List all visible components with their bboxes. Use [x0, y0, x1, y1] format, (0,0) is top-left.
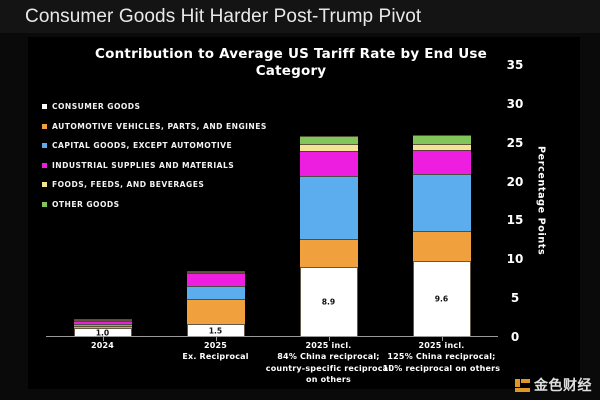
watermark-logo-icon	[515, 378, 530, 393]
y-axis-tick-label: 15	[502, 213, 528, 227]
y-axis: 05101520253035	[502, 65, 536, 337]
bar-segment[interactable]	[413, 135, 471, 144]
bar-segment[interactable]	[300, 144, 358, 151]
bar-segment[interactable]	[300, 151, 358, 176]
x-axis-labels: 20242025Ex. Reciprocal2025 incl.84% Chin…	[46, 340, 498, 386]
bar-segment[interactable]	[74, 324, 132, 326]
bar-segment[interactable]	[74, 321, 132, 324]
y-axis-tick-label: 5	[502, 291, 528, 305]
y-axis-title: Percentage Points	[533, 65, 549, 337]
y-axis-tick-label: 10	[502, 252, 528, 266]
chart-panel: Contribution to Average US Tariff Rate b…	[28, 37, 580, 389]
y-axis-tick-label: 35	[502, 58, 528, 72]
bar-segment[interactable]: 8.9	[300, 267, 358, 336]
x-axis-category-line: 125% China reciprocal;	[374, 351, 509, 362]
y-axis-title-text: Percentage Points	[536, 146, 547, 255]
x-axis-category-label: 2025 incl.125% China reciprocal;10% reci…	[374, 340, 509, 374]
bar-segment[interactable]	[413, 144, 471, 150]
bar-value-label: 8.9	[301, 297, 357, 306]
bar-value-label: 1.0	[75, 328, 131, 337]
bar-segment[interactable]	[74, 319, 132, 320]
watermark: 金色财经	[515, 375, 592, 395]
bar-segment[interactable]	[187, 271, 245, 272]
y-axis-tick-label: 20	[502, 175, 528, 189]
bar-segment[interactable]: 1.0	[74, 328, 132, 336]
bar-stack[interactable]: 1.5	[187, 271, 245, 336]
header-banner: Consumer Goods Hit Harder Post-Trump Piv…	[0, 0, 600, 33]
bar-value-label: 1.5	[188, 326, 244, 335]
bar-segment[interactable]	[74, 320, 132, 321]
bar-segment[interactable]	[187, 273, 245, 286]
bar-value-label: 9.6	[414, 295, 470, 304]
watermark-text: 金色财经	[534, 375, 592, 395]
bar-stack[interactable]: 8.9	[300, 136, 358, 336]
bar-segment[interactable]	[187, 299, 245, 324]
bar-segment[interactable]	[74, 326, 132, 328]
page-title: Consumer Goods Hit Harder Post-Trump Piv…	[0, 6, 421, 28]
bar-stack[interactable]: 9.6	[413, 135, 471, 336]
bar-segment[interactable]	[300, 136, 358, 145]
bar-stack[interactable]: 1.0	[74, 319, 132, 336]
bar-segment[interactable]	[187, 272, 245, 273]
bar-segment[interactable]	[413, 231, 471, 261]
x-axis-category-line: 2025 incl.	[374, 340, 509, 351]
screenshot-root: Consumer Goods Hit Harder Post-Trump Piv…	[0, 0, 600, 400]
bar-segment[interactable]	[300, 176, 358, 239]
y-axis-tick-label: 30	[502, 97, 528, 111]
bar-segment[interactable]	[187, 286, 245, 299]
bar-segment[interactable]	[300, 239, 358, 267]
bar-segment[interactable]: 1.5	[187, 324, 245, 336]
y-axis-tick-label: 25	[502, 136, 528, 150]
x-axis-category-line: 10% reciprocal on others	[374, 363, 509, 374]
bar-segment[interactable]: 9.6	[413, 261, 471, 336]
x-axis-category-line: on others	[261, 374, 396, 385]
bar-segment[interactable]	[413, 150, 471, 173]
plot-area: 1.01.58.99.6	[46, 65, 498, 337]
bar-segment[interactable]	[413, 174, 471, 232]
